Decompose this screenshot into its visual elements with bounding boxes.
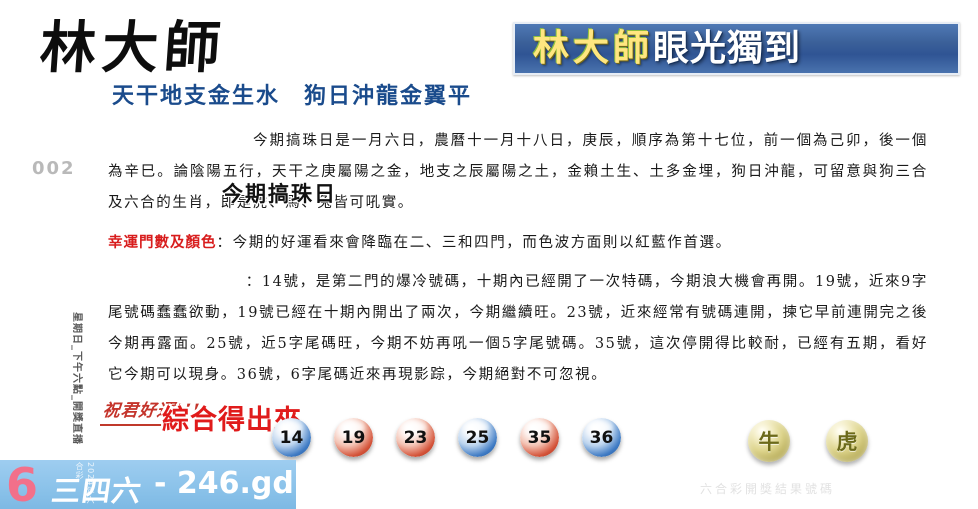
- lottery-ball[interactable]: 23: [396, 418, 435, 457]
- lottery-ball[interactable]: 36: [582, 418, 621, 457]
- lottery-ball[interactable]: 14: [272, 418, 311, 457]
- lottery-ball-number: 14: [280, 428, 304, 448]
- header-banner-text: 林大師眼光獨到: [533, 26, 801, 72]
- lottery-ball-number: 23: [404, 428, 428, 448]
- vertical-side-note: 星期日_下午六點_開獎直播: [71, 312, 86, 432]
- lottery-ball-number: 19: [342, 428, 366, 448]
- zodiac-ball-row: 牛 虎: [748, 420, 868, 462]
- watermark-url: - 246.gd: [154, 466, 294, 501]
- masthead-title: 林大師: [38, 18, 372, 80]
- lucky-body: ：今期的好運看來會降臨在二、三和四門，而色波方面則以紅藍作首選。: [217, 235, 732, 251]
- page-canvas: 林大師 天干地支金生水 狗日沖龍金翼平 林大師眼光獨到 002 今期搞珠日是一月…: [0, 0, 978, 509]
- lottery-ball-number: 25: [466, 428, 490, 448]
- background-ghost-text: 六合彩開獎結果號碼: [700, 480, 835, 497]
- article-body: 今期搞珠日是一月六日，農曆十一月十八日，庚辰，順序為第十七位，前一個為己卯，後一…: [108, 126, 928, 399]
- lottery-ball[interactable]: 35: [520, 418, 559, 457]
- lottery-number-row: 14 19 23 25 35 36: [272, 418, 621, 457]
- stamp-draw-date: 今期搞珠日: [222, 178, 337, 208]
- lottery-ball[interactable]: 19: [334, 418, 373, 457]
- page-subtitle: 天干地支金生水 狗日沖龍金翼平: [112, 84, 472, 110]
- banner-gold-text: 林大師: [533, 28, 653, 69]
- lottery-ball[interactable]: 25: [458, 418, 497, 457]
- zodiac-ball[interactable]: 虎: [826, 420, 868, 462]
- watermark-brand-cn: 三四六: [49, 468, 145, 509]
- banner-white-text: 眼光獨到: [653, 28, 801, 69]
- article-paragraph-3: ：14號，是第二門的爆冷號碼，十期內已經開了一次特碼，今期浪大機會再開。19號，…: [108, 267, 928, 391]
- page-number: 002: [32, 158, 76, 179]
- watermark-logo-digit: 6: [6, 462, 38, 508]
- zodiac-ball[interactable]: 牛: [748, 420, 790, 462]
- site-watermark: 6 2024年六合彩 三四六 - 246.gd: [0, 460, 296, 509]
- article-lucky-line: 幸運門數及顏色：今期的好運看來會降臨在二、三和四門，而色波方面則以紅藍作首選。: [108, 227, 928, 259]
- lucky-label: 幸運門數及顏色: [108, 234, 217, 251]
- lottery-ball-number: 35: [528, 428, 552, 448]
- header-banner: 林大師眼光獨到: [513, 22, 960, 75]
- lottery-ball-number: 36: [590, 428, 614, 448]
